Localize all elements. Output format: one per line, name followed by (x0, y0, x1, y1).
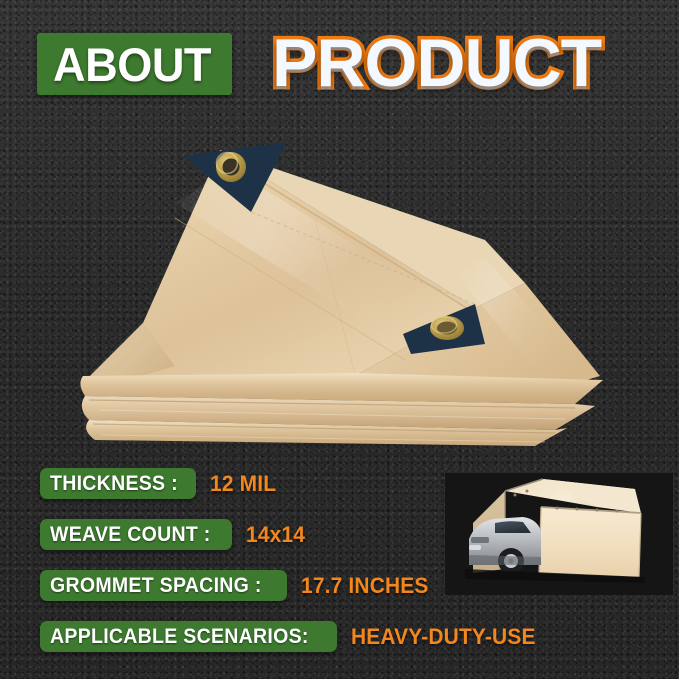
spec-value-text: 14x14 (246, 522, 305, 548)
heading-about: ABOUT (53, 41, 211, 88)
spec-label-pill: GROMMET SPACING : (40, 570, 287, 601)
spec-label-pill: THICKNESS : (40, 468, 196, 499)
spec-value-text: 12 MIL (210, 471, 276, 497)
spec-label-pill: APPLICABLE SCENARIOS: (40, 621, 337, 652)
spec-row-applicable-scenarios: APPLICABLE SCENARIOS: HEAVY-DUTY-USE (40, 611, 650, 662)
suv-headlight (469, 545, 481, 550)
spec-label-text: APPLICABLE SCENARIOS: (50, 626, 309, 647)
page-header: ABOUT PRODUCT (0, 24, 679, 104)
spec-value-text: HEAVY-DUTY-USE (351, 624, 536, 650)
spec-label-text: THICKNESS : (50, 473, 178, 494)
about-banner: ABOUT (37, 33, 232, 95)
canopy-side-panel (539, 507, 641, 577)
spec-value-text: 17.7 INCHES (301, 573, 429, 599)
spec-label-text: WEAVE COUNT : (50, 524, 211, 545)
tarp-illustration (55, 108, 625, 448)
tarp-product-photo (55, 108, 625, 448)
heading-product: PRODUCT (272, 24, 601, 102)
carport-usage-photo (445, 473, 673, 595)
spec-label-text: GROMMET SPACING : (50, 575, 262, 596)
carport-illustration (445, 473, 673, 595)
spec-label-pill: WEAVE COUNT : (40, 519, 232, 550)
suv-grille (471, 537, 489, 543)
product-infographic: ABOUT PRODUCT (0, 0, 679, 679)
